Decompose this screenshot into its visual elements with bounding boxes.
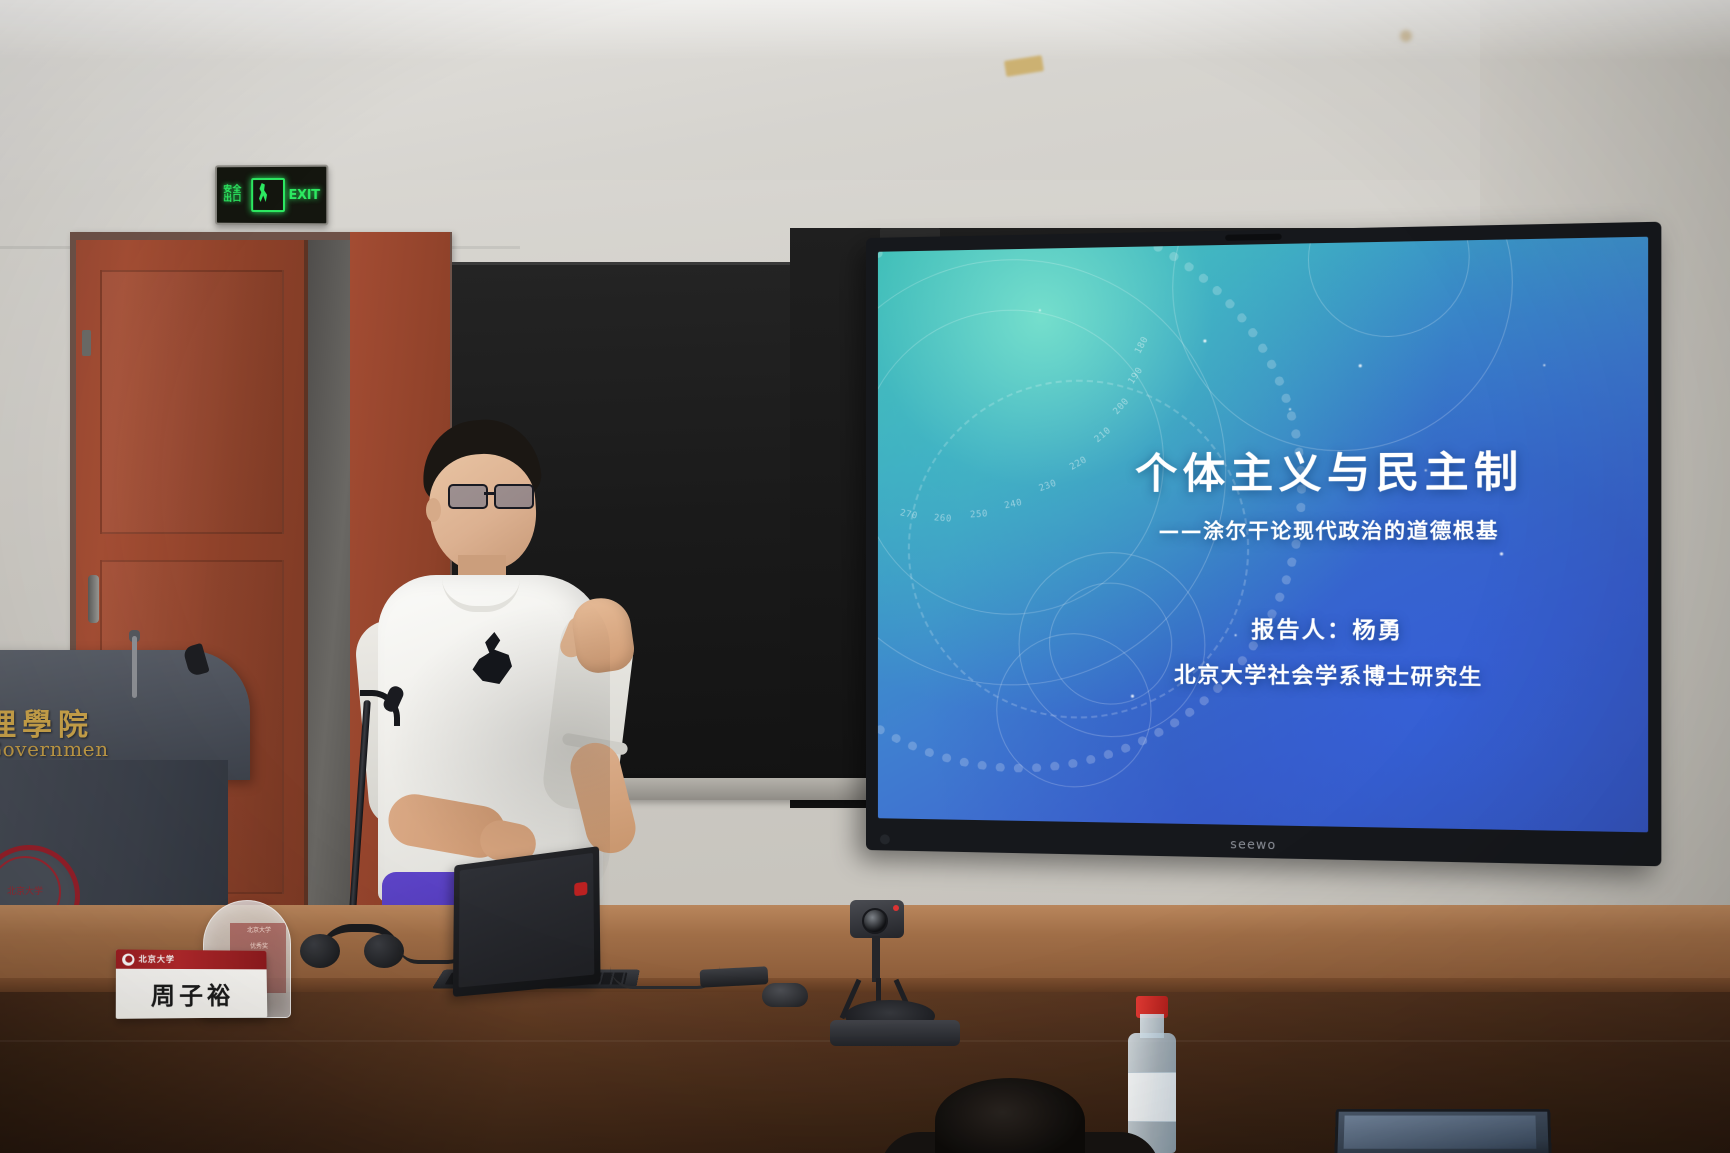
exit-sign-cn-label: 安全出口 xyxy=(223,186,248,204)
slide-spark xyxy=(1203,339,1206,342)
computer-mouse[interactable] xyxy=(762,983,808,1007)
smart-display[interactable]: 180 190 200 210 220 230 240 250 260 270 … xyxy=(866,222,1661,867)
bottle-label xyxy=(1128,1072,1176,1122)
headphone-cup-left xyxy=(300,934,340,968)
camera-record-led-icon xyxy=(893,905,899,911)
door-hinge-icon xyxy=(82,330,91,356)
presentation-slide: 180 190 200 210 220 230 240 250 260 270 … xyxy=(878,237,1648,833)
nameplate-org-label: 北京大学 xyxy=(139,954,175,965)
door-panel-upper xyxy=(100,270,284,534)
exit-sign-en-label: EXIT xyxy=(288,187,319,202)
slide-spark xyxy=(1131,695,1134,698)
hud-number: 250 xyxy=(970,509,989,520)
lectern-microphone xyxy=(132,636,137,698)
ceiling-shadow xyxy=(0,0,1730,60)
nameplate-header-band: 北京大学 xyxy=(116,949,267,969)
audience-laptop[interactable] xyxy=(1334,1109,1552,1153)
award-line-1: 北京大学 xyxy=(234,927,284,935)
lens-right xyxy=(494,484,534,509)
running-man-icon xyxy=(252,178,286,212)
wall-mark-small xyxy=(1400,30,1412,42)
lecture-room-photo: 安全出口 EXIT 180 190 200 xyxy=(0,0,1730,1153)
presenter-laptop[interactable] xyxy=(453,846,601,997)
hud-number: 260 xyxy=(934,513,952,524)
slide-subtitle: ——涂尔干论现代政治的道德根基 xyxy=(1047,514,1617,544)
pku-seal-icon xyxy=(122,953,134,965)
lens-left xyxy=(448,484,488,509)
emergency-exit-sign: 安全出口 EXIT xyxy=(215,165,328,226)
slide-presenter: 报告人：杨勇 xyxy=(1047,611,1617,647)
presentation-clicker[interactable] xyxy=(700,966,769,988)
display-ir-sensor-icon xyxy=(880,834,890,844)
display-brand-label: seewo xyxy=(1230,837,1276,852)
presenter-hand-right xyxy=(569,594,637,675)
tripod-column xyxy=(872,936,880,982)
equipment-case xyxy=(830,1020,960,1046)
slide-spark xyxy=(1039,309,1041,311)
laptop-screen xyxy=(459,853,595,988)
slide-text-block: 个体主义与民主制 ——涂尔干论现代政治的道德根基 报告人：杨勇 北京大学社会学系… xyxy=(1047,447,1617,693)
door-handle[interactable] xyxy=(88,575,99,623)
headphone-cup-right xyxy=(364,934,404,968)
lectern-school-name-en: Governmen xyxy=(0,737,109,761)
presenter-ear xyxy=(426,498,441,522)
camera-lens-icon xyxy=(862,908,888,934)
eyeglasses-icon xyxy=(448,484,544,506)
slide-affiliation: 北京大学社会学系博士研究生 xyxy=(1047,658,1617,694)
slide-spark xyxy=(1359,364,1362,367)
desk-nameplate[interactable]: 北京大学 周子裕 xyxy=(116,949,268,1018)
laptop-brand-badge-icon xyxy=(574,882,587,897)
display-camera-icon xyxy=(1225,234,1281,241)
slide-spark xyxy=(1289,408,1291,410)
slide-title: 个体主义与民主制 xyxy=(1047,447,1617,498)
nameplate-person-name: 周子裕 xyxy=(116,969,268,1019)
audience-laptop-screen xyxy=(1344,1116,1537,1149)
slide-spark xyxy=(1543,364,1545,366)
